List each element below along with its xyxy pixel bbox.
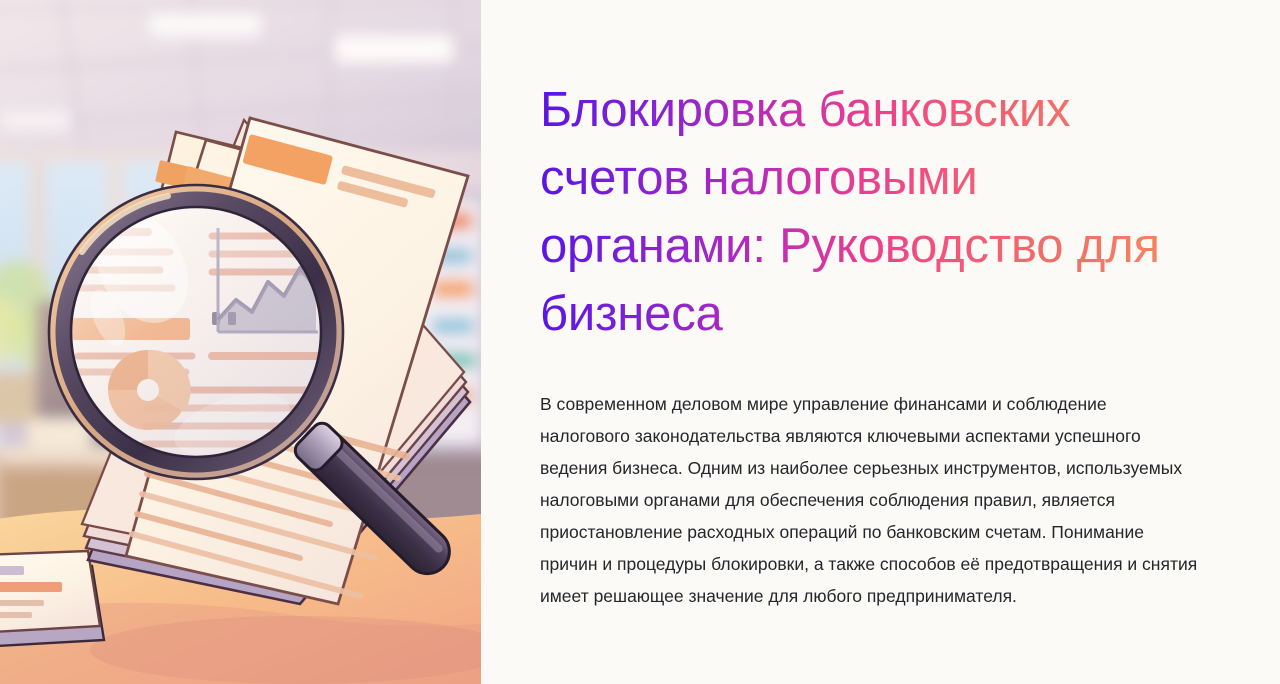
page-title: Блокировка банковских счетов налоговыми …	[540, 0, 1160, 348]
article-intro-paragraph: В современном деловом мире управление фи…	[540, 348, 1200, 612]
content-inner: Блокировка банковских счетов налоговыми …	[540, 0, 1202, 612]
illustration-canvas	[0, 0, 481, 684]
article-hero-page: Блокировка банковских счетов налоговыми …	[0, 0, 1280, 684]
article-content-panel: Блокировка банковских счетов налоговыми …	[481, 0, 1280, 684]
hero-illustration	[0, 0, 481, 684]
loose-paper	[0, 551, 104, 648]
